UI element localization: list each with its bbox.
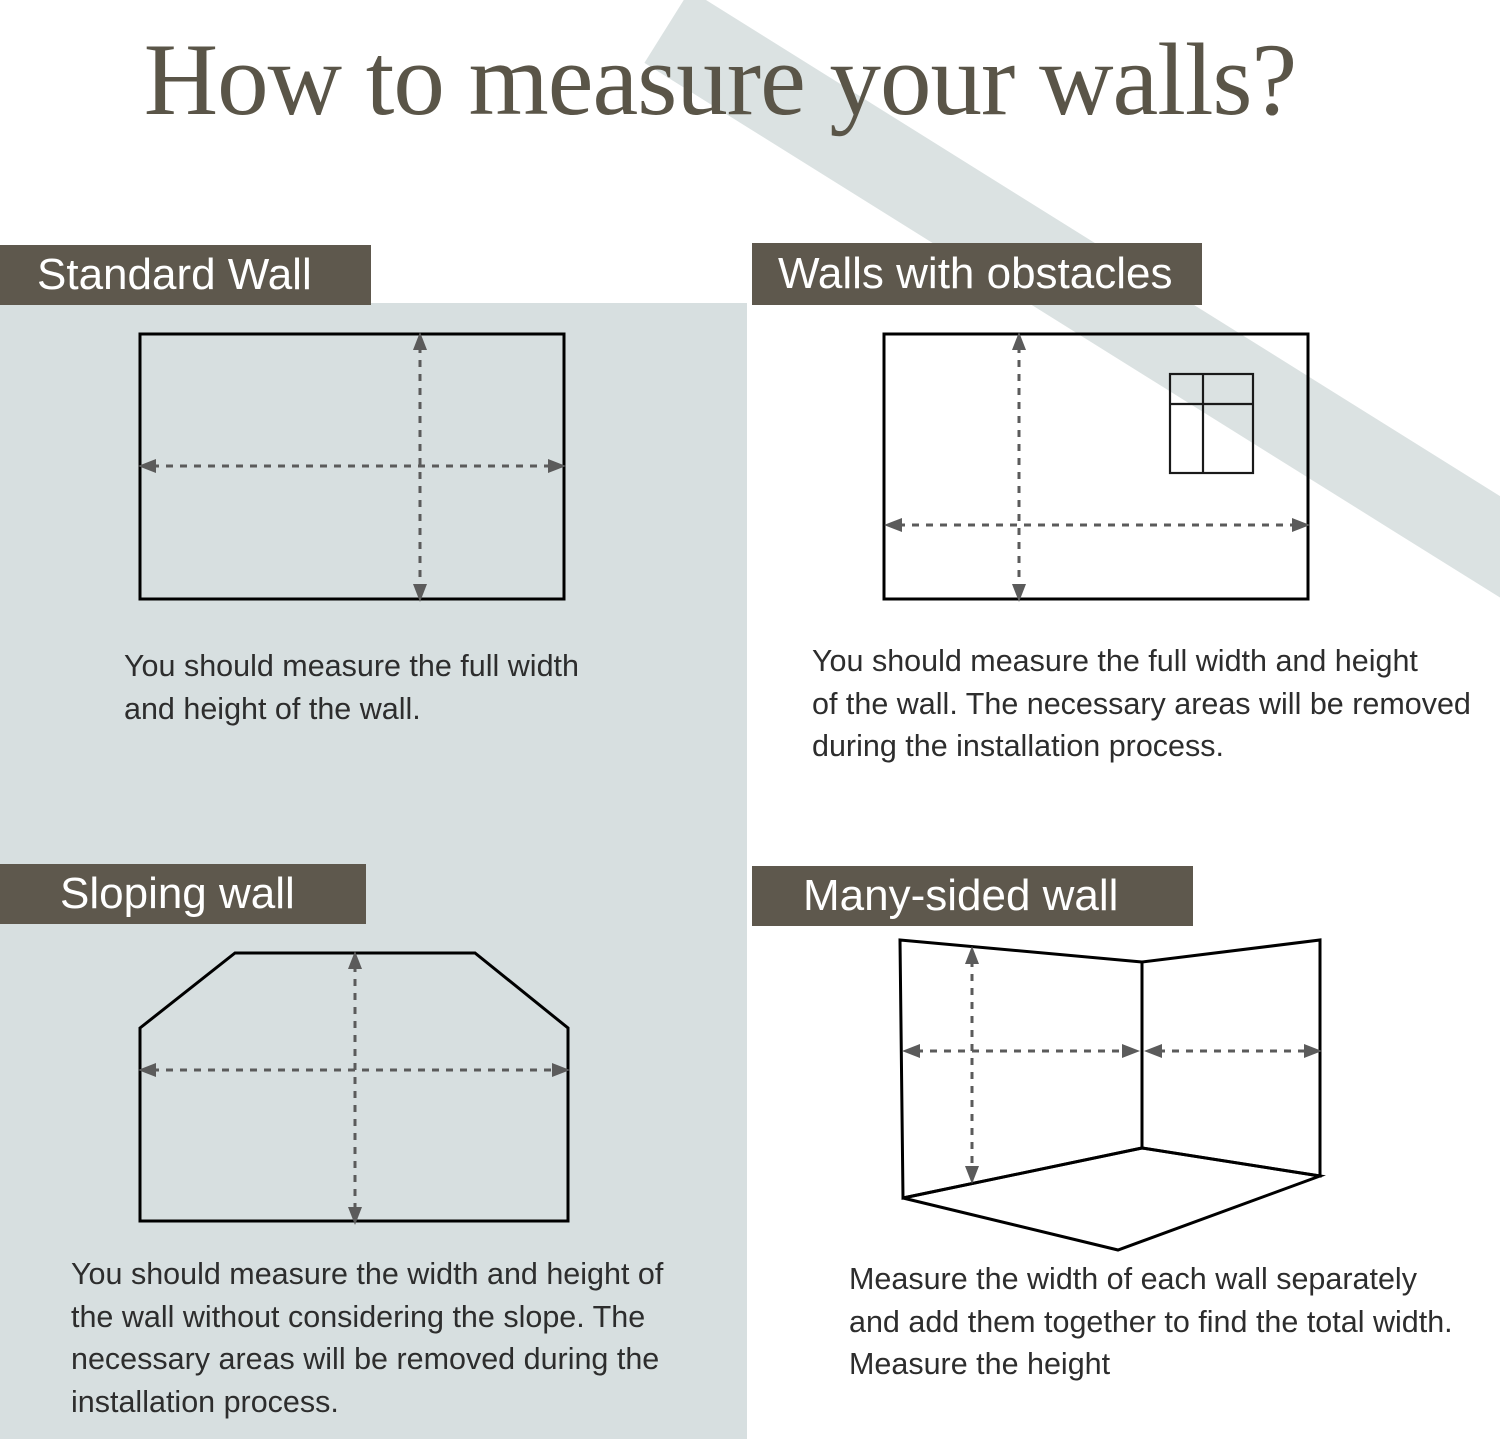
arrowhead-left bbox=[902, 1044, 920, 1058]
diagram-sloping-wall bbox=[110, 930, 610, 1240]
section-header-label: Sloping wall bbox=[60, 872, 295, 916]
section-header-label: Many-sided wall bbox=[803, 874, 1118, 918]
arrowhead-up bbox=[965, 946, 979, 964]
page-title: How to measure your walls? bbox=[0, 28, 1440, 133]
arrowhead-left bbox=[1144, 1044, 1162, 1058]
caption-many-sided-wall: Measure the width of each wall separatel… bbox=[849, 1258, 1469, 1386]
diagram-wall-with-obstacles bbox=[860, 310, 1350, 620]
diagram-standard-wall bbox=[110, 310, 600, 620]
arrowhead-right bbox=[1122, 1044, 1140, 1058]
section-header-many-sided-wall: Many-sided wall bbox=[752, 866, 1193, 926]
window-icon bbox=[1170, 374, 1253, 473]
caption-sloping-wall: You should measure the width and height … bbox=[71, 1253, 691, 1424]
section-header-label: Walls with obstacles bbox=[778, 252, 1173, 296]
caption-walls-with-obstacles: You should measure the full width and he… bbox=[812, 640, 1492, 768]
section-header-label: Standard Wall bbox=[37, 253, 312, 297]
diagram-many-sided-wall bbox=[880, 925, 1350, 1270]
infographic-canvas: How to measure your walls? Standard Wall… bbox=[0, 0, 1500, 1439]
caption-standard-wall: You should measure the full width and he… bbox=[124, 645, 644, 730]
arrowhead-left bbox=[884, 518, 902, 532]
section-header-standard-wall: Standard Wall bbox=[0, 245, 371, 305]
section-header-sloping-wall: Sloping wall bbox=[0, 864, 366, 924]
section-header-walls-with-obstacles: Walls with obstacles bbox=[752, 243, 1202, 305]
